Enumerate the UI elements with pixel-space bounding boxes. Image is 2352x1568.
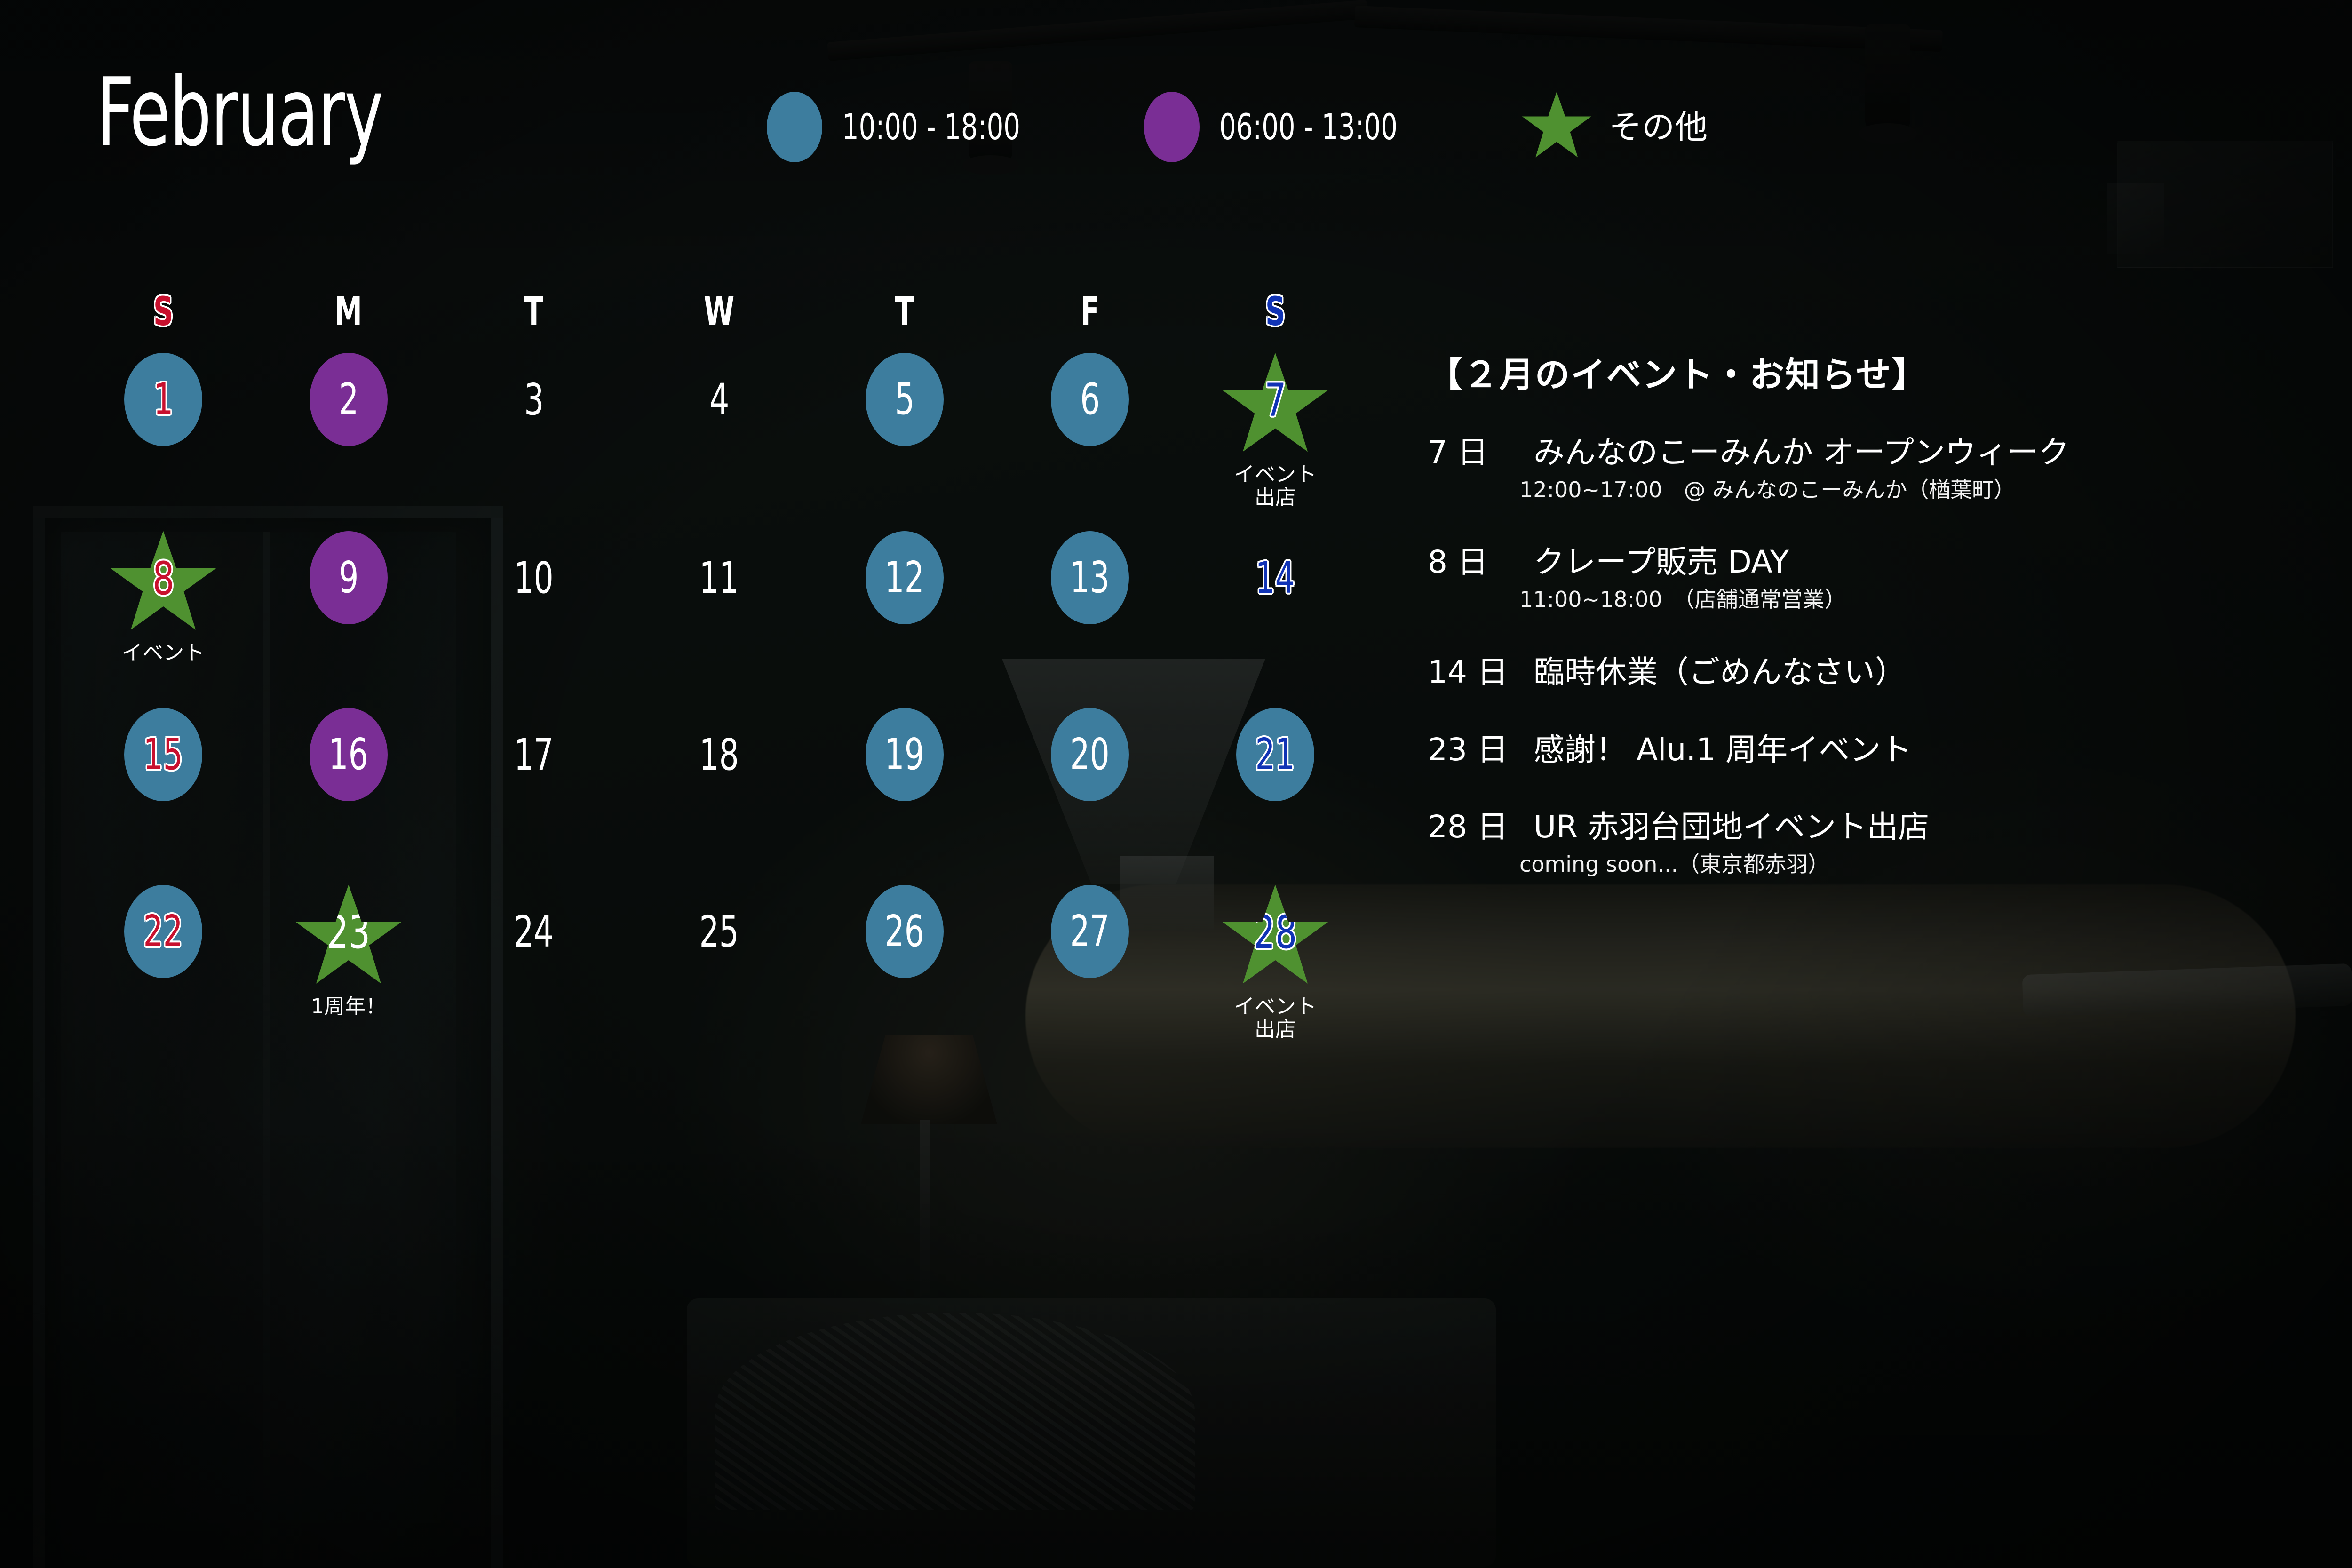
day-number: 13 [1070, 556, 1110, 599]
event-main-line: 8 日クレープ販売 DAY [1428, 545, 2321, 580]
calendar-day-26[interactable]: 26 [812, 885, 997, 1042]
calendar-day-9[interactable]: 9 [256, 531, 441, 686]
blue-circle-icon: 1 [124, 353, 202, 446]
calendar-day-28[interactable]: 28イベント 出店 [1183, 885, 1368, 1042]
green-star-icon: 7 [1221, 353, 1329, 459]
weekday-label-3: W [704, 292, 734, 331]
calendar-poster: February 10:00 - 18:0006:00 - 13:00その他 S… [0, 0, 2352, 1568]
calendar-week-row: 22231周年！2425262728イベント 出店 [71, 885, 1369, 1042]
day-plain: 25 [672, 885, 766, 979]
day-number: 28 [1254, 910, 1297, 955]
day-number: 12 [885, 556, 924, 599]
day-plain: 4 [672, 353, 766, 447]
green-star-icon: 23 [294, 885, 403, 991]
calendar-week-row: 8イベント91011121314 [71, 531, 1369, 686]
day-plain: 17 [487, 708, 581, 802]
calendar-day-11[interactable]: 11 [627, 531, 812, 686]
weekday-cell-0: S [71, 292, 256, 331]
month-title: February [96, 66, 383, 160]
events-panel: 【２月のイベント・お知らせ】 7 日みんなのこーみんか オープンウィーク12:0… [1428, 358, 2321, 877]
calendar-day-20[interactable]: 20 [997, 708, 1183, 863]
blue-circle-icon: 12 [866, 531, 944, 624]
weekday-cell-1: M [256, 292, 441, 331]
legend-item-1: 10:00 - 18:00 [767, 92, 1059, 162]
day-number: 3 [524, 378, 544, 422]
calendar-day-19[interactable]: 19 [812, 708, 997, 863]
blue-circle-icon: 26 [866, 885, 944, 978]
blue-circle-icon: 6 [1051, 353, 1129, 446]
blue-circle-icon: 21 [1236, 708, 1314, 801]
event-main-line: 23 日感謝！ Alu.1 周年イベント [1428, 733, 2321, 767]
blue-circle-icon [767, 92, 822, 162]
day-plain: 10 [487, 531, 581, 625]
day-number: 27 [1070, 910, 1110, 953]
calendar-day-15[interactable]: 15 [71, 708, 256, 863]
events-panel-title: 【２月のイベント・お知らせ】 [1428, 358, 2321, 392]
blue-circle-icon: 19 [866, 708, 944, 801]
calendar-week-row: 1234567イベント 出店 [71, 353, 1369, 509]
weekday-label-6: S [1265, 292, 1285, 331]
event-day: 23 日 [1428, 733, 1534, 767]
calendar-day-18[interactable]: 18 [627, 708, 812, 863]
blue-circle-icon: 15 [124, 708, 202, 801]
calendar-weeks: 1234567イベント 出店8イベント910111213141516171819… [71, 353, 1369, 1041]
purple-circle-icon: 2 [310, 353, 388, 446]
day-number: 19 [885, 733, 924, 776]
calendar-day-6[interactable]: 6 [997, 353, 1183, 509]
events-list: 7 日みんなのこーみんか オープンウィーク12:00~17:00 @ みんなのこ… [1428, 436, 2321, 877]
day-number: 8 [152, 556, 174, 601]
day-plain: 24 [487, 885, 581, 979]
day-number: 18 [699, 733, 739, 777]
calendar-day-23[interactable]: 231周年！ [256, 885, 441, 1042]
weekday-label-2: T [524, 292, 543, 331]
event-day: 14 日 [1428, 655, 1534, 690]
day-number: 17 [514, 733, 554, 777]
event-item: 8 日クレープ販売 DAY11:00~18:00 （店舗通常営業） [1428, 545, 2321, 612]
event-item: 14 日臨時休業（ごめんなさい） [1428, 655, 2321, 690]
day-plain: 3 [487, 353, 581, 447]
event-detail: coming soon...（東京都赤羽） [1519, 852, 2321, 877]
event-detail: 11:00~18:00 （店舗通常営業） [1519, 587, 2321, 612]
calendar-day-17[interactable]: 17 [441, 708, 627, 863]
day-plain: 18 [672, 708, 766, 802]
calendar-day-10[interactable]: 10 [441, 531, 627, 686]
weekday-cell-4: T [812, 292, 997, 331]
green-star-icon [1521, 92, 1592, 162]
weekday-label-0: S [153, 292, 173, 331]
day-note-label: イベント [122, 641, 205, 664]
legend-label-2: 06:00 - 13:00 [1219, 109, 1398, 145]
legend-label-3: その他 [1609, 111, 1708, 143]
day-note-label: イベント 出店 [1234, 995, 1317, 1042]
event-day: 8 日 [1428, 545, 1534, 580]
calendar-day-1[interactable]: 1 [71, 353, 256, 509]
calendar-day-24[interactable]: 24 [441, 885, 627, 1042]
event-title: 感謝！ Alu.1 周年イベント [1534, 733, 2321, 767]
day-number: 15 [143, 733, 183, 776]
weekday-label-4: T [895, 292, 914, 331]
calendar-day-25[interactable]: 25 [627, 885, 812, 1042]
weekday-label-5: F [1081, 292, 1099, 331]
weekday-cell-6: S [1183, 292, 1368, 331]
day-number: 26 [885, 910, 924, 953]
calendar-day-14[interactable]: 14 [1183, 531, 1368, 686]
calendar-day-8[interactable]: 8イベント [71, 531, 256, 686]
calendar-day-21[interactable]: 21 [1183, 708, 1368, 863]
purple-circle-icon: 9 [310, 531, 388, 624]
day-number: 14 [1255, 557, 1295, 600]
event-item: 7 日みんなのこーみんか オープンウィーク12:00~17:00 @ みんなのこ… [1428, 436, 2321, 502]
legend-label-1: 10:00 - 18:00 [842, 109, 1020, 145]
event-title: みんなのこーみんか オープンウィーク [1534, 436, 2321, 470]
blue-circle-icon: 13 [1051, 531, 1129, 624]
legend-item-3: その他 [1521, 92, 1708, 162]
day-number: 21 [1255, 733, 1295, 776]
day-number: 25 [699, 910, 739, 954]
calendar-day-4[interactable]: 4 [627, 353, 812, 509]
day-number: 9 [339, 556, 358, 599]
green-star-icon: 8 [109, 531, 217, 637]
event-day: 7 日 [1428, 436, 1534, 470]
legend-item-2: 06:00 - 13:00 [1144, 92, 1437, 162]
calendar-day-5[interactable]: 5 [812, 353, 997, 509]
day-number: 4 [709, 378, 729, 422]
event-main-line: 14 日臨時休業（ごめんなさい） [1428, 655, 2321, 690]
day-number: 6 [1080, 378, 1100, 421]
calendar-day-22[interactable]: 22 [71, 885, 256, 1042]
purple-circle-icon: 16 [310, 708, 388, 801]
blue-circle-icon: 27 [1051, 885, 1129, 978]
blue-circle-icon: 20 [1051, 708, 1129, 801]
event-title: 臨時休業（ごめんなさい） [1534, 655, 2321, 690]
event-main-line: 7 日みんなのこーみんか オープンウィーク [1428, 436, 2321, 470]
purple-circle-icon [1144, 92, 1200, 162]
green-star-icon: 28 [1221, 885, 1329, 991]
blue-circle-icon: 22 [124, 885, 202, 978]
event-item: 28 日UR 赤羽台団地イベント出店coming soon...（東京都赤羽） [1428, 810, 2321, 876]
day-number: 20 [1070, 733, 1110, 776]
calendar-day-27[interactable]: 27 [997, 885, 1183, 1042]
day-number: 10 [514, 557, 554, 600]
calendar-grid: SMTWTFS 1234567イベント 出店8イベント9101112131415… [71, 292, 1369, 1041]
weekday-label-1: M [335, 292, 363, 331]
day-number: 24 [514, 910, 554, 954]
weekday-cell-2: T [441, 292, 627, 331]
calendar-day-12[interactable]: 12 [812, 531, 997, 686]
calendar-day-7[interactable]: 7イベント 出店 [1183, 353, 1368, 509]
calendar-week-row: 15161718192021 [71, 708, 1369, 863]
day-number: 7 [1264, 378, 1286, 423]
legend: 10:00 - 18:0006:00 - 13:00その他 [767, 92, 1708, 162]
weekday-header-row: SMTWTFS [71, 292, 1369, 331]
calendar-day-13[interactable]: 13 [997, 531, 1183, 686]
day-note-label: 1周年！ [311, 995, 386, 1018]
day-number: 1 [153, 378, 173, 421]
event-title: UR 赤羽台団地イベント出店 [1534, 810, 2321, 844]
day-plain: 11 [672, 531, 766, 625]
event-title: クレープ販売 DAY [1534, 545, 2321, 580]
day-note-label: イベント 出店 [1234, 463, 1317, 509]
weekday-cell-3: W [627, 292, 812, 331]
day-number: 23 [327, 910, 370, 955]
event-main-line: 28 日UR 赤羽台団地イベント出店 [1428, 810, 2321, 844]
day-number: 22 [143, 910, 183, 953]
day-number: 5 [895, 378, 914, 421]
event-day: 28 日 [1428, 810, 1534, 844]
calendar-day-3[interactable]: 3 [441, 353, 627, 509]
weekday-cell-5: F [997, 292, 1183, 331]
day-number: 2 [339, 378, 358, 421]
calendar-day-16[interactable]: 16 [256, 708, 441, 863]
event-detail: 12:00~17:00 @ みんなのこーみんか（楢葉町） [1519, 478, 2321, 502]
event-item: 23 日感謝！ Alu.1 周年イベント [1428, 733, 2321, 767]
blue-circle-icon: 5 [866, 353, 944, 446]
calendar-day-2[interactable]: 2 [256, 353, 441, 509]
day-number: 16 [329, 733, 368, 776]
day-plain: 14 [1228, 531, 1322, 625]
day-number: 11 [699, 557, 739, 600]
